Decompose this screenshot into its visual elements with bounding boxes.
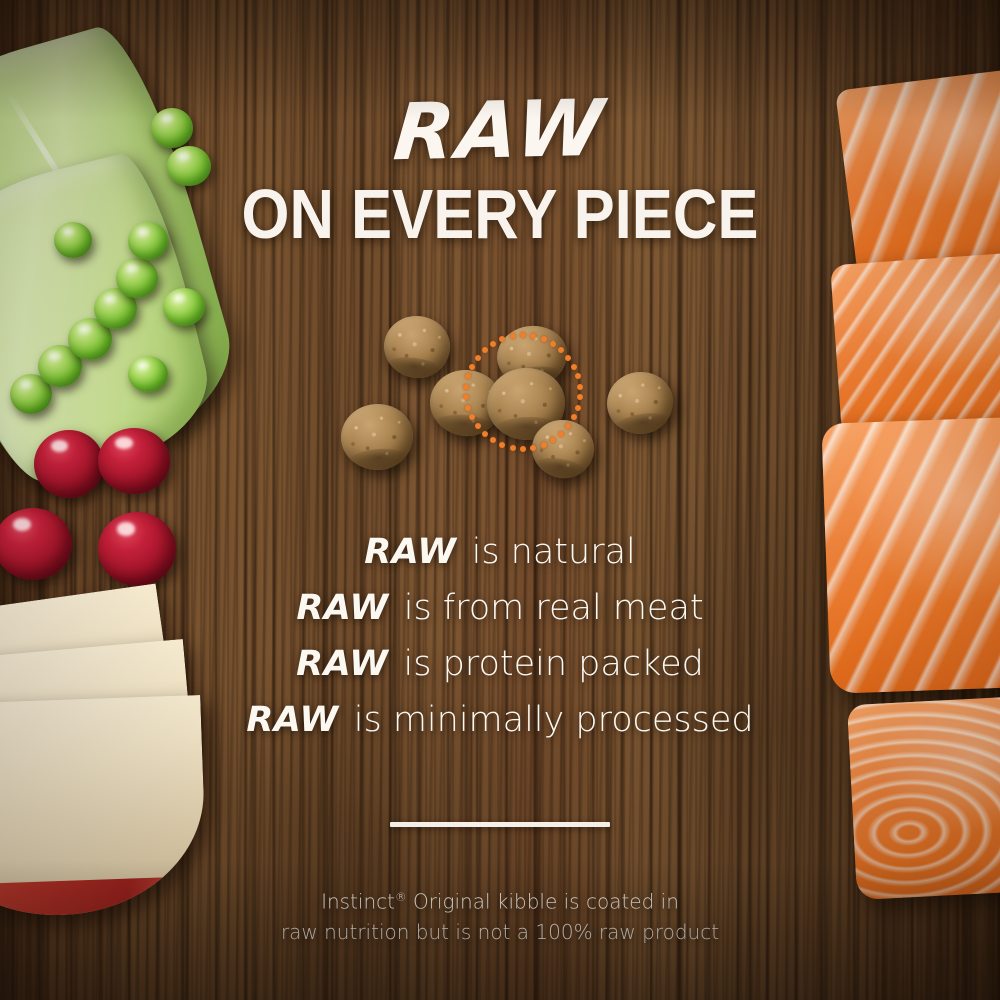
highlight-ring-dot <box>475 355 481 361</box>
claim-raw-word: RAW <box>364 532 456 572</box>
highlight-ring-dot <box>550 437 556 443</box>
highlight-ring-dot <box>510 445 516 451</box>
claim-line: RAW is protein packed <box>0 636 1000 692</box>
highlight-ring-dot <box>469 414 475 420</box>
highlight-ring-dot <box>577 384 583 390</box>
claims-list: RAW is natural RAW is from real meat RAW… <box>0 524 1000 748</box>
highlight-ring-dot <box>577 394 583 400</box>
claim-raw-word: RAW <box>246 700 338 740</box>
highlight-ring-dot <box>499 442 505 448</box>
highlight-ring-dot <box>530 445 536 451</box>
orange-dotted-highlight-ring <box>463 332 583 452</box>
raw-on-every-piece-graphic: RAW ON EVERY PIECE RAW is natural RAW is… <box>0 0 1000 1000</box>
disclaimer-line-2: raw nutrition but is not a 100% raw prod… <box>0 917 1000 947</box>
cranberry <box>98 428 170 494</box>
highlight-ring-dot <box>541 336 547 342</box>
highlight-ring-dot <box>565 355 571 361</box>
disclaimer: Instinct® Original kibble is coated in r… <box>0 882 1000 947</box>
disclaimer-line-1-rest: Original kibble is coated in <box>407 890 679 914</box>
highlight-ring-dot <box>575 405 581 411</box>
highlight-ring-dot <box>482 347 488 353</box>
highlight-ring-dot <box>482 431 488 437</box>
salmon-sheen <box>830 251 1000 440</box>
claim-line: RAW is minimally processed <box>0 692 1000 748</box>
highlight-ring-dot <box>558 347 564 353</box>
claim-line: RAW is from real meat <box>0 580 1000 636</box>
claim-raw-word: RAW <box>296 644 388 684</box>
divider-rule <box>390 822 610 827</box>
highlight-ring-dot <box>490 437 496 443</box>
highlight-ring-dot <box>571 364 577 370</box>
claim-rest: is protein packed <box>404 644 704 684</box>
loose-pea <box>128 356 168 392</box>
highlight-ring-dot <box>465 405 471 411</box>
loose-pea <box>163 288 205 326</box>
highlight-ring-dot <box>465 373 471 379</box>
highlight-ring-dot <box>530 333 536 339</box>
highlight-ring-dot <box>475 423 481 429</box>
highlight-ring-dot <box>571 414 577 420</box>
highlight-ring-dot <box>499 336 505 342</box>
highlight-ring-dot <box>550 341 556 347</box>
highlight-ring-dot <box>558 431 564 437</box>
highlight-ring-dot <box>575 373 581 379</box>
headline-on-every-piece: ON EVERY PIECE <box>60 174 940 254</box>
claim-rest: is minimally processed <box>354 700 754 740</box>
disclaimer-line-1: Instinct® Original kibble is coated in <box>0 882 1000 917</box>
cranberry <box>34 430 104 498</box>
pea-in-pod <box>116 258 158 298</box>
highlight-ring-dot <box>469 364 475 370</box>
claim-rest: is from real meat <box>404 588 704 628</box>
registered-mark-icon: ® <box>395 890 407 904</box>
highlight-ring-dot <box>520 446 526 452</box>
highlight-ring-dot <box>490 341 496 347</box>
highlight-ring-dot <box>510 333 516 339</box>
highlight-ring-dot <box>463 384 469 390</box>
highlight-ring-dot <box>463 394 469 400</box>
brand-name: Instinct <box>321 890 395 914</box>
highlight-ring-dot <box>541 442 547 448</box>
highlight-ring-dot <box>520 332 526 338</box>
claim-rest: is natural <box>472 532 636 572</box>
salmon-fillet-upper-mid <box>830 251 1000 440</box>
claim-raw-word: RAW <box>296 588 388 628</box>
highlight-ring-dot <box>565 423 571 429</box>
claim-line: RAW is natural <box>0 524 1000 580</box>
